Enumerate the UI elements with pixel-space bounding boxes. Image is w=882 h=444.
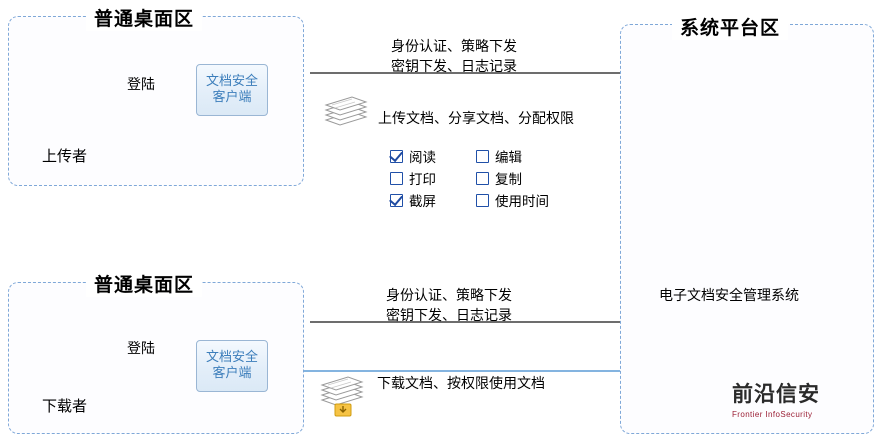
diagram-canvas: 普通桌面区 普通桌面区 系统平台区 上传者 登陆 文档安全 客户端 身份认证、策…	[0, 0, 882, 444]
top-login-label: 登陆	[127, 74, 155, 94]
permission-label: 复制	[495, 168, 522, 188]
permission-item-2[interactable]: 打印	[390, 167, 476, 189]
checkbox-unchecked-icon[interactable]	[476, 172, 489, 185]
permission-item-5[interactable]: 使用时间	[476, 189, 562, 211]
bottom-client-box[interactable]: 文档安全 客户端	[196, 340, 268, 392]
zone-desktop-top-title: 普通桌面区	[86, 4, 202, 31]
zone-platform-title: 系统平台区	[672, 13, 788, 40]
bottom-client-line2: 客户端	[197, 365, 267, 381]
bottom-client-line1: 文档安全	[197, 349, 267, 365]
top-doc-action-text: 上传文档、分享文档、分配权限	[378, 108, 574, 128]
logo-name-en: Frontier InfoSecurity	[732, 410, 820, 419]
top-auth-text-line1: 身份认证、策略下发	[391, 36, 517, 56]
platform-system-label: 电子文档安全管理系统	[659, 285, 799, 305]
permission-label: 使用时间	[495, 190, 549, 210]
top-client-line1: 文档安全	[197, 73, 267, 89]
permission-label: 打印	[409, 168, 436, 188]
permission-label: 阅读	[409, 146, 436, 166]
document-stack-icon-bottom	[322, 377, 362, 416]
download-action-text: 下载文档、按权限使用文档	[377, 373, 545, 393]
bottom-auth-text-line1: 身份认证、策略下发	[386, 285, 512, 305]
checkbox-checked-icon[interactable]	[390, 194, 403, 207]
checkbox-unchecked-icon[interactable]	[390, 172, 403, 185]
top-client-line2: 客户端	[197, 89, 267, 105]
logo-name-cn: 前沿信安	[732, 378, 820, 408]
checkbox-unchecked-icon[interactable]	[476, 194, 489, 207]
logo: 前沿信安 Frontier InfoSecurity	[732, 378, 820, 419]
checkbox-unchecked-icon[interactable]	[476, 150, 489, 163]
document-stack-icon-top	[326, 97, 366, 125]
bottom-login-label: 登陆	[127, 338, 155, 358]
bottom-auth-text-line2: 密钥下发、日志记录	[386, 305, 512, 325]
checkbox-checked-icon[interactable]	[390, 150, 403, 163]
permission-label: 截屏	[409, 190, 436, 210]
downloader-label: 下载者	[42, 395, 87, 416]
top-auth-text-line2: 密钥下发、日志记录	[391, 56, 517, 76]
permission-item-1[interactable]: 编辑	[476, 145, 562, 167]
permission-label: 编辑	[495, 146, 522, 166]
zone-platform	[620, 24, 874, 434]
zone-desktop-bottom-title: 普通桌面区	[86, 270, 202, 297]
permission-item-3[interactable]: 复制	[476, 167, 562, 189]
uploader-label: 上传者	[42, 145, 87, 166]
permission-item-4[interactable]: 截屏	[390, 189, 476, 211]
permission-item-0[interactable]: 阅读	[390, 145, 476, 167]
permission-grid: 阅读 编辑 打印 复制 截屏 使用时间	[390, 145, 562, 211]
top-client-box[interactable]: 文档安全 客户端	[196, 64, 268, 116]
